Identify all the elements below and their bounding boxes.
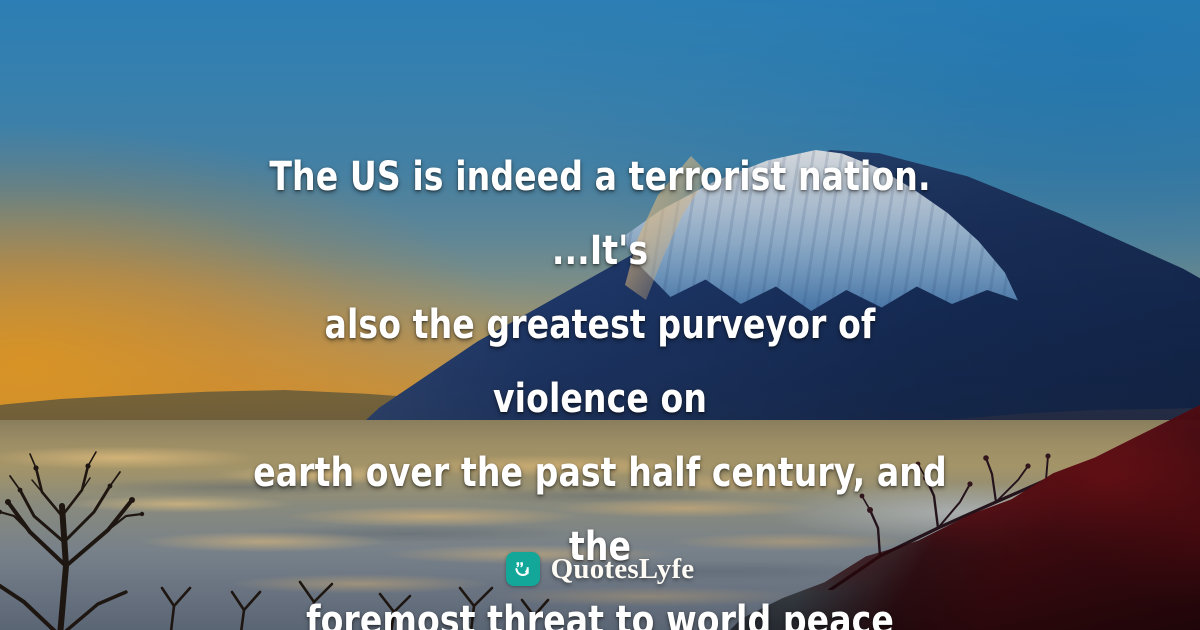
quote-smiley-icon xyxy=(506,552,540,586)
card-content: The US is indeed a terrorist nation. ...… xyxy=(0,0,1200,630)
quote-line: also the greatest purveyor of violence o… xyxy=(250,288,949,436)
brand-logo[interactable]: QuotesLyfe xyxy=(0,552,1200,586)
brand-name: QuotesLyfe xyxy=(551,555,695,584)
quote-line: The US is indeed a terrorist nation. ...… xyxy=(250,140,949,288)
quote-card: The US is indeed a terrorist nation. ...… xyxy=(0,0,1200,630)
quote-line: foremost threat to world peace today. xyxy=(250,584,949,630)
